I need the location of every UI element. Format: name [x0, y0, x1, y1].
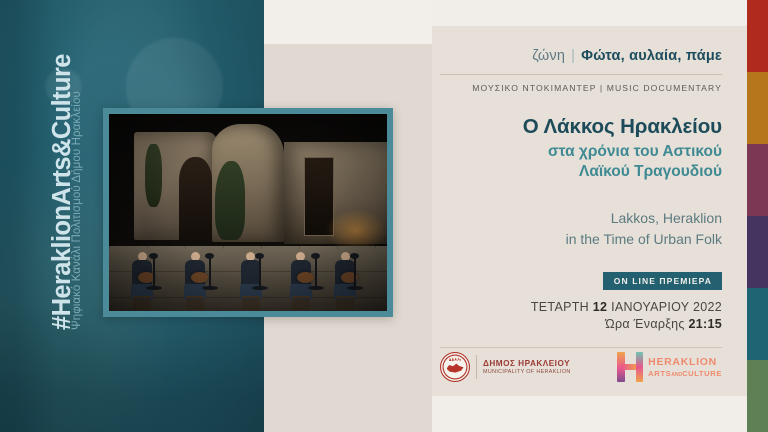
vertical-brand-text: #HeraklionArts&Culture Ψηφιακό Κανάλι Πο…: [16, 0, 86, 432]
right-bottom-strip: [432, 396, 747, 432]
genre-line: ΜΟΥΣΙΚΟ ΝΤΟΚΙΜΑΝΤΕΡ | MUSIC DOCUMENTARY: [440, 83, 722, 93]
date-suffix: ΙΑΝΟΥΑΡΙΟΥ 2022: [611, 300, 722, 314]
time-value: 21:15: [689, 317, 722, 331]
municipality-name-greek: ΔΗΜΟΣ ΗΡΑΚΛΕΙΟΥ: [483, 359, 571, 369]
hac-logo-text: HERAKLION ARTSANDCULTURE: [648, 356, 722, 378]
title-english-line2: in the Time of Urban Folk: [440, 229, 722, 249]
time-label: Ώρα Έναρξης: [605, 317, 684, 331]
event-photo: [109, 114, 387, 311]
divider-top: [440, 74, 722, 75]
screening-date: ΤΕΤΑΡΤΗ 12 ΙΑΝΟΥΑΡΙΟΥ 2022: [440, 300, 722, 314]
hac-arts: ARTS: [648, 369, 671, 378]
color-band-green: [747, 360, 768, 432]
date-prefix: ΤΕΤΑΡΤΗ: [531, 300, 589, 314]
right-top-strip: [432, 0, 747, 26]
premiere-badge-wrap: ON LINE ΠΡΕΜΙΕΡΑ: [440, 271, 722, 290]
title-english: Lakkos, Heraklion in the Time of Urban F…: [440, 208, 722, 249]
color-band-plum: [747, 144, 768, 216]
hac-culture: CULTURE: [682, 369, 722, 378]
subtitle-greek: στα χρόνια του Αστικού Λαϊκού Τραγουδιού: [440, 142, 722, 182]
zone-label: ζώνη: [532, 48, 565, 64]
logo-divider: [476, 355, 477, 379]
event-poster: #HeraklionArts&Culture Ψηφιακό Κανάλι Πο…: [0, 0, 768, 432]
brand-tagline: Ψηφιακό Κανάλι Πολιτισμού Δήμου Ηρακλείο…: [72, 91, 84, 330]
color-band-red: [747, 0, 768, 72]
hac-line-1: HERAKLION: [648, 356, 722, 369]
screening-time: Ώρα Έναρξης 21:15: [440, 317, 722, 331]
municipality-logo-text: ΔΗΜΟΣ ΗΡΑΚΛΕΙΟΥ MUNICIPALITY OF HERAKLIO…: [483, 359, 571, 376]
hac-h-monogram-icon: [617, 352, 643, 382]
photo-vignette: [109, 114, 387, 311]
hac-and: AND: [671, 372, 682, 378]
hac-line-2: ARTSANDCULTURE: [648, 369, 722, 378]
status-badge: ON LINE ΠΡΕΜΙΕΡΑ: [603, 272, 722, 290]
poster-content: ζώνη|Φώτα, αυλαία, πάμε ΜΟΥΣΙΚΟ ΝΤΟΚΙΜΑΝ…: [440, 26, 740, 396]
subtitle-greek-line2: Λαϊκού Τραγουδιού: [440, 162, 722, 182]
zone-row: ζώνη|Φώτα, αυλαία, πάμε: [440, 48, 722, 64]
brand-color-bar: [747, 0, 768, 432]
title-greek: Ο Λάκκος Ηρακλείου: [440, 115, 722, 139]
municipality-crest-icon: [440, 352, 470, 382]
municipality-logo: ΔΗΜΟΣ ΗΡΑΚΛΕΙΟΥ MUNICIPALITY OF HERAKLIO…: [440, 352, 571, 382]
zone-separator: |: [571, 48, 575, 64]
color-band-amber: [747, 72, 768, 144]
color-band-purple: [747, 216, 768, 288]
logo-row: ΔΗΜΟΣ ΗΡΑΚΛΕΙΟΥ MUNICIPALITY OF HERAKLIO…: [440, 344, 740, 390]
title-english-line1: Lakkos, Heraklion: [440, 208, 722, 228]
heraklion-arts-culture-logo: HERAKLION ARTSANDCULTURE: [617, 352, 722, 382]
subtitle-greek-line1: στα χρόνια του Αστικού: [440, 142, 722, 162]
color-band-teal: [747, 288, 768, 360]
municipality-name-english: MUNICIPALITY OF HERAKLION: [483, 369, 571, 376]
zone-title: Φώτα, αυλαία, πάμε: [581, 48, 722, 64]
event-photo-frame: [103, 108, 393, 317]
date-day: 12: [593, 300, 608, 314]
